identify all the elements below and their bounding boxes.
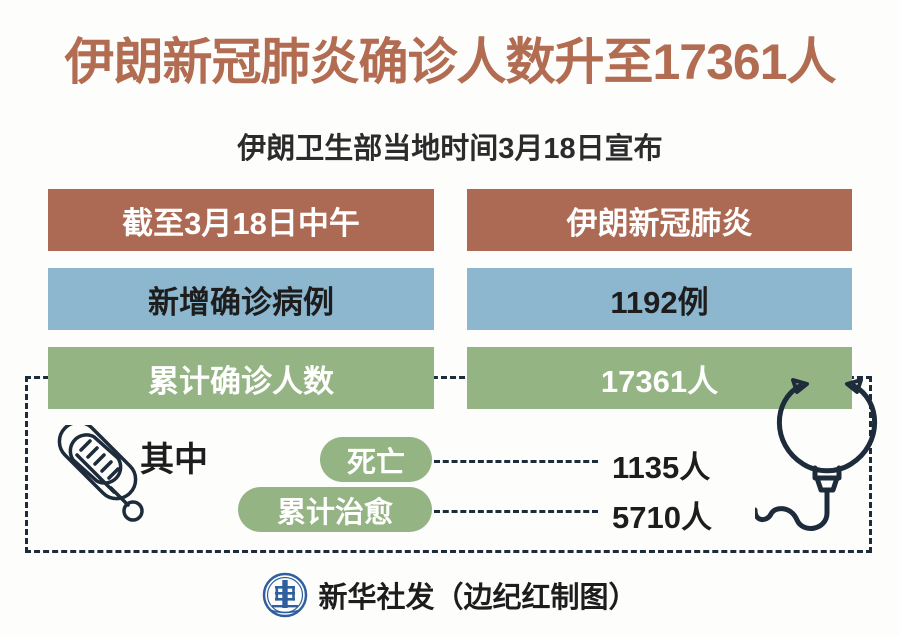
stethoscope-icon [755, 358, 900, 538]
table-row-label-2: 累计确诊人数 [48, 347, 434, 409]
table-row-label-1: 新增确诊病例 [48, 268, 434, 330]
table-row-value-1: 1192例 [467, 268, 852, 330]
page-subtitle: 伊朗卫生部当地时间3月18日宣布 [0, 125, 900, 167]
connector-death [434, 460, 598, 463]
xinhua-logo-icon [262, 572, 308, 618]
thermometer-icon [55, 425, 147, 540]
connector-cured [434, 510, 598, 513]
breakdown-value-death: 1135人 [612, 442, 710, 487]
breakdown-pill-death: 死亡 [320, 437, 432, 482]
among-label: 其中 [140, 432, 208, 481]
page-title: 伊朗新冠肺炎确诊人数升至17361人 [0, 36, 900, 89]
table-row-label-0: 截至3月18日中午 [48, 189, 434, 251]
breakdown-pill-cured: 累计治愈 [238, 487, 432, 532]
footer-credit-text: 新华社发（边纪红制图） [318, 574, 637, 616]
footer-credit-bar: 新华社发（边纪红制图） [0, 572, 900, 618]
table-row-value-0: 伊朗新冠肺炎 [467, 189, 852, 251]
breakdown-value-cured: 5710人 [612, 492, 712, 537]
infographic-canvas: 伊朗新冠肺炎确诊人数升至17361人 伊朗卫生部当地时间3月18日宣布 截至3月… [0, 0, 900, 635]
